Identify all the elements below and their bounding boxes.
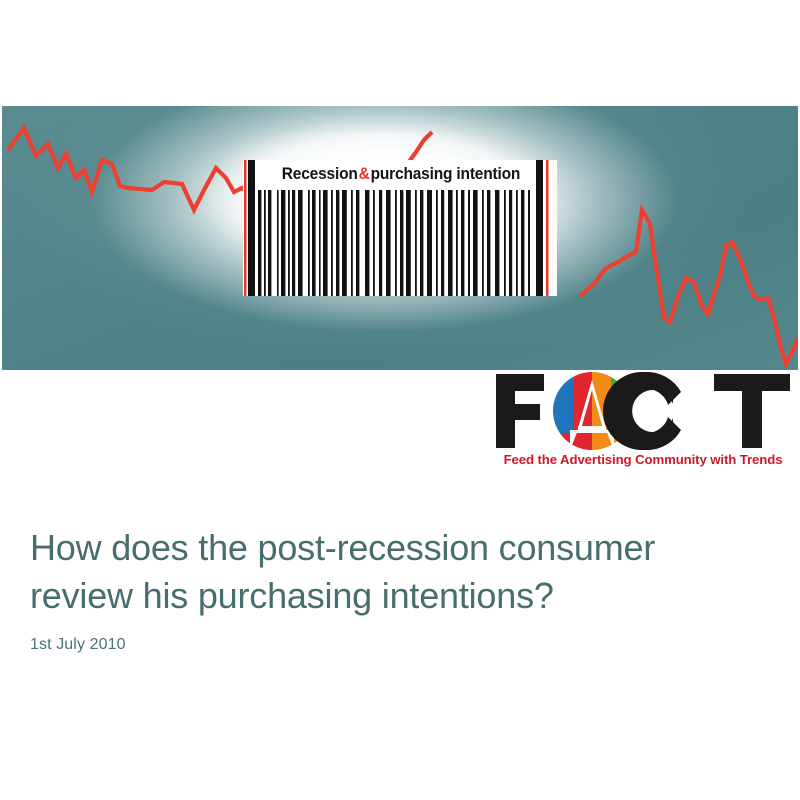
fact-logo: Feed the Advertising Community with Tren… <box>492 370 794 480</box>
logo-letter-t <box>714 374 790 448</box>
recession-banner: Recession & purchasing intention <box>2 106 798 370</box>
barcode-graphic: Recession & purchasing intention <box>243 160 557 296</box>
fact-wordmark <box>492 370 794 452</box>
fact-tagline: Feed the Advertising Community with Tren… <box>492 452 794 467</box>
presentation-date: 1st July 2010 <box>30 636 770 654</box>
page-title-line-2: review his purchasing intentions? <box>30 572 770 620</box>
barcode-title-ampersand: & <box>358 165 371 184</box>
logo-letter-f <box>496 374 544 448</box>
barcode-title-suffix: purchasing intention <box>371 165 521 184</box>
page-title: How does the post-recession consumer rev… <box>30 524 770 620</box>
barcode-title: Recession & purchasing intention <box>271 160 530 188</box>
barcode-title-prefix: Recession <box>282 165 358 184</box>
title-block: How does the post-recession consumer rev… <box>30 524 770 654</box>
page-title-line-1: How does the post-recession consumer <box>30 524 770 572</box>
